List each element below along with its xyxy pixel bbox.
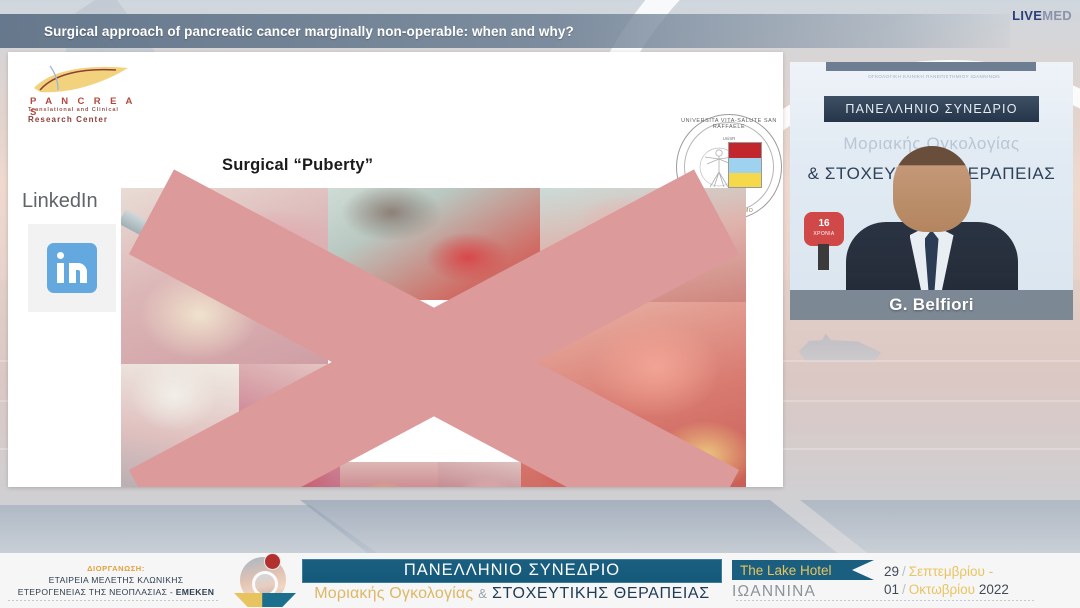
date2-year: 2022 <box>979 582 1009 597</box>
pancreas-logo-line3: Research Center <box>28 115 108 124</box>
date1-sep: / <box>902 564 906 579</box>
date2-sep: / <box>902 582 906 597</box>
venue-name: The Lake Hotel <box>740 563 832 578</box>
organizer-line-1: ΕΤΑΙΡΕΙΑ ΜΕΛΕΤΗΣ ΚΛΩΝΙΚΗΣ <box>49 575 184 585</box>
speaker-head <box>893 146 971 232</box>
congress-subtitle: Μοριακής Ογκολογίας & ΣΤΟΧΕΥΤΙΚΗΣ ΘΕΡΑΠΕ… <box>302 585 722 603</box>
congress-subtitle-amp: & <box>478 586 487 601</box>
date1-day: 29 <box>884 564 899 579</box>
congress-title-block: ΠΑΝΕΛΛΗΝΙΟ ΣΥΝΕΔΡΙΟ Μοριακής Ογκολογίας … <box>302 553 732 608</box>
collage-photo <box>340 462 438 487</box>
organizer-line-2: ΕΤΕΡΟΓΕΝΕΙΑΣ ΤΗΣ ΝΕΟΠΛΑΣΙΑΣ - ΕΜΕΚΕΝ <box>18 587 215 597</box>
logo-anniversary-badge-icon <box>264 553 281 570</box>
pancreas-research-center-logo: P A N C R E A S Translational and Clinic… <box>20 58 138 130</box>
livemed-logo-med: MED <box>1042 8 1072 23</box>
venue-name-banner: The Lake Hotel <box>732 560 852 580</box>
surgical-photo-collage <box>121 188 746 487</box>
mic-flag-number: 16 <box>804 218 844 229</box>
microphone-flag-icon: 16 ΧΡΟΝΙΑ <box>804 212 844 268</box>
congress-circular-logo <box>228 553 302 608</box>
speaker-video-feed[interactable]: ΟΓΚΟΛΟΓΙΚΗ ΚΛΙΝΙΚΗ ΠΑΝΕΠΙΣΤΗΜΙΟΥ ΙΩΑΝΝΙΝ… <box>790 62 1073 290</box>
venue-date-block: The Lake Hotel ΙΩΑΝΝΙΝΑ 29/Σεπτεμβρίου -… <box>732 553 1050 608</box>
congress-subtitle-blue: ΣΤΟΧΕΥΤΙΚΗΣ ΘΕΡΑΠΕΙΑΣ <box>492 585 710 603</box>
date-block: 29/Σεπτεμβρίου - 01/Οκτωβρίου 2022 <box>884 564 1009 597</box>
backdrop-institution-text: ΟΓΚΟΛΟΓΙΚΗ ΚΛΙΝΙΚΗ ΠΑΝΕΠΙΣΤΗΜΙΟΥ ΙΩΑΝΝΙΝ… <box>834 74 1034 79</box>
congress-title-band: ΠΑΝΕΛΛΗΝΙΟ ΣΥΝΕΔΡΙΟ <box>302 559 722 583</box>
venue-block: The Lake Hotel ΙΩΑΝΝΙΝΑ <box>732 560 860 601</box>
organizer-acronym: ΕΜΕΚΕΝ <box>176 587 215 597</box>
livemed-logo-live: LIVE <box>1012 8 1042 23</box>
date2-day: 01 <box>884 582 899 597</box>
collage-photo <box>521 302 746 487</box>
seal-shield-icon <box>728 142 762 188</box>
backdrop-congress-band: ΠΑΝΕΛΛΗΝΙΟ ΣΥΝΕΔΡΙΟ <box>824 96 1039 122</box>
page-title: Surgical approach of pancreatic cancer m… <box>0 24 574 39</box>
logo-boat-shape-icon <box>234 593 296 607</box>
backdrop-top-bar <box>826 62 1036 71</box>
footer-dotted-rule <box>8 600 220 601</box>
backdrop-congress-title: ΠΑΝΕΛΛΗΝΙΟ ΣΥΝΕΔΡΙΟ <box>845 102 1017 116</box>
speaker-name-bar: G. Belfiori <box>790 290 1073 320</box>
organizer-block: ΔΙΟΡΓΑΝΩΣΗ: ΕΤΑΙΡΕΙΑ ΜΕΛΕΤΗΣ ΚΛΩΝΙΚΗΣ ΕΤ… <box>0 553 228 608</box>
collage-photo <box>239 364 340 487</box>
collage-photo <box>121 188 328 364</box>
date1-month: Σεπτεμβρίου - <box>909 564 993 579</box>
linkedin-icon <box>47 243 97 293</box>
collage-photo <box>328 188 540 300</box>
speaker-name: G. Belfiori <box>889 295 974 315</box>
footer-dotted-rule-right <box>736 600 1036 601</box>
seal-top-text: UNIVERSITA VITA-SALUTE SAN RAFFAELE <box>676 118 782 130</box>
date2-month: Οκτωβρίου <box>909 582 975 597</box>
event-footer-banner: ΔΙΟΡΓΑΝΩΣΗ: ΕΤΑΙΡΕΙΑ ΜΕΛΕΤΗΣ ΚΛΩΝΙΚΗΣ ΕΤ… <box>0 553 1080 608</box>
collage-photo <box>438 462 534 487</box>
organizer-label: ΔΙΟΡΓΑΝΩΣΗ: <box>87 564 145 573</box>
pancreas-swoosh-icon <box>32 62 130 96</box>
date-line-2: 01/Οκτωβρίου 2022 <box>884 582 1009 597</box>
seal-sub-text: UniSR <box>676 136 782 141</box>
pancreas-logo-line2: Translational and Clinical <box>28 107 119 113</box>
congress-title: ΠΑΝΕΛΛΗΝΙΟ ΣΥΝΕΔΡΙΟ <box>404 561 620 580</box>
collage-photo <box>121 364 239 487</box>
livemed-logo: LIVEMED <box>1012 8 1072 23</box>
linkedin-label: LinkedIn <box>22 190 98 213</box>
slide-panel[interactable]: P A N C R E A S Translational and Clinic… <box>8 52 783 487</box>
presentation-title-bar: Surgical approach of pancreatic cancer m… <box>0 14 1010 48</box>
slide-title: Surgical “Puberty” <box>222 156 373 175</box>
organizer-line-2-text: ΕΤΕΡΟΓΕΝΕΙΑΣ ΤΗΣ ΝΕΟΠΛΑΣΙΑΣ - <box>18 587 176 597</box>
linkedin-logo-box[interactable] <box>28 224 116 312</box>
congress-subtitle-gold: Μοριακής Ογκολογίας <box>314 585 473 603</box>
venue-city: ΙΩΑΝΝΙΝΑ <box>732 583 860 601</box>
mic-flag-sub: ΧΡΟΝΙΑ <box>804 231 844 237</box>
date-line-1: 29/Σεπτεμβρίου - <box>884 564 1009 579</box>
